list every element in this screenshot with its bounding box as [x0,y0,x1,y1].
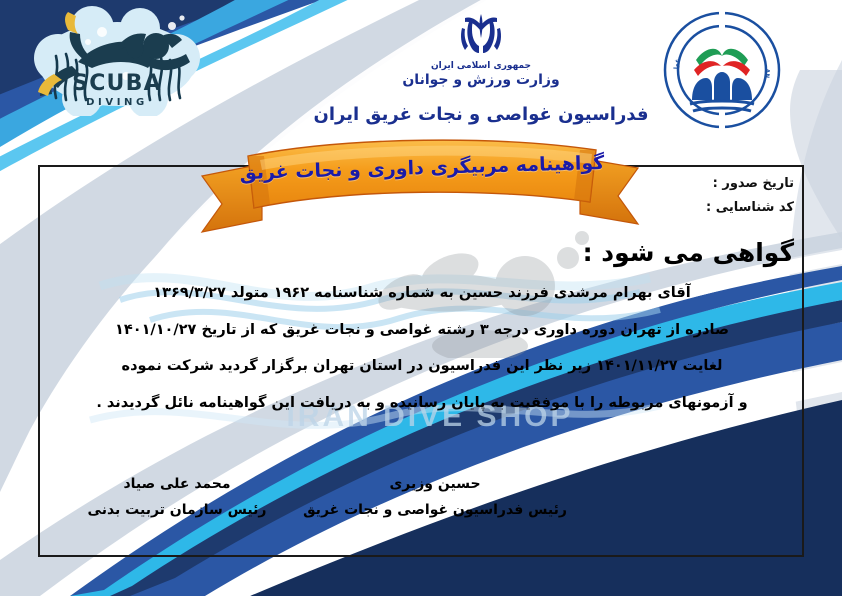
signature-right-name: حسین وزیری [300,476,570,492]
id-code-row: کد شناسایی : [706,196,794,220]
body-line-3: لغایت ۱۴۰۱/۱۱/۲۷ زیر نظر این فدراسیون در… [48,359,796,374]
signature-right-title: رئیس فدراسیون غواصی و نجات غریق [300,502,570,518]
signature-left-title: رئیس سازمان تربیت بدنی [62,502,292,518]
certificate-body: آقای بهرام مرشدی فرزند حسین به شماره شنا… [48,286,796,432]
seal-ring-text-fa: غواصی و نجات غریق · جمهوری اسلامی ایران [660,8,681,69]
body-line-2: صادره از تهران دوره داوری درجه ۳ رشته غو… [48,323,796,338]
id-code-label: کد شناسایی : [706,200,794,215]
federation-title: فدراسیون غواصی و نجات غریق ایران [286,104,676,125]
scuba-wordmark: SCUBA [72,71,162,96]
certificate-page: IRAN DIVE SHOP [0,0,842,596]
issue-date-row: تاریخ صدور : [706,172,794,196]
ministry-name: وزارت ورزش و جوانان [356,72,606,88]
diving-federation-seal-icon: غواصی و نجات غریق · جمهوری اسلامی ایران … [660,8,784,132]
scuba-diver-icon: SCUBA DIVING [22,6,212,116]
signature-sports-organization-head: محمد علی صیاد رئیس سازمان تربیت بدنی [62,476,292,518]
issue-date-label: تاریخ صدور : [713,176,794,191]
iran-national-emblem-icon [453,8,509,60]
title-ribbon [200,134,640,242]
svg-text:غواصی و نجات غریق · جمهوری ا: غواصی و نجات غریق · جمهوری اسلامی ایران [660,8,681,69]
body-line-4: و آزمونهای مربوطه را با موفقیت به پایان … [48,396,796,411]
body-line-1: آقای بهرام مرشدی فرزند حسین به شماره شنا… [48,286,796,301]
signature-federation-president: حسین وزیری رئیس فدراسیون غواصی و نجات غر… [300,476,570,518]
diving-wordmark: DIVING [86,97,148,108]
country-name: جمهوری اسلامی ایران [356,61,606,71]
ministry-emblem-block: جمهوری اسلامی ایران وزارت ورزش و جوانان [356,8,606,88]
signature-left-name: محمد علی صیاد [62,476,292,492]
page-title: گواهی می شود : [583,238,794,267]
issue-meta: تاریخ صدور : کد شناسایی : [706,172,794,220]
